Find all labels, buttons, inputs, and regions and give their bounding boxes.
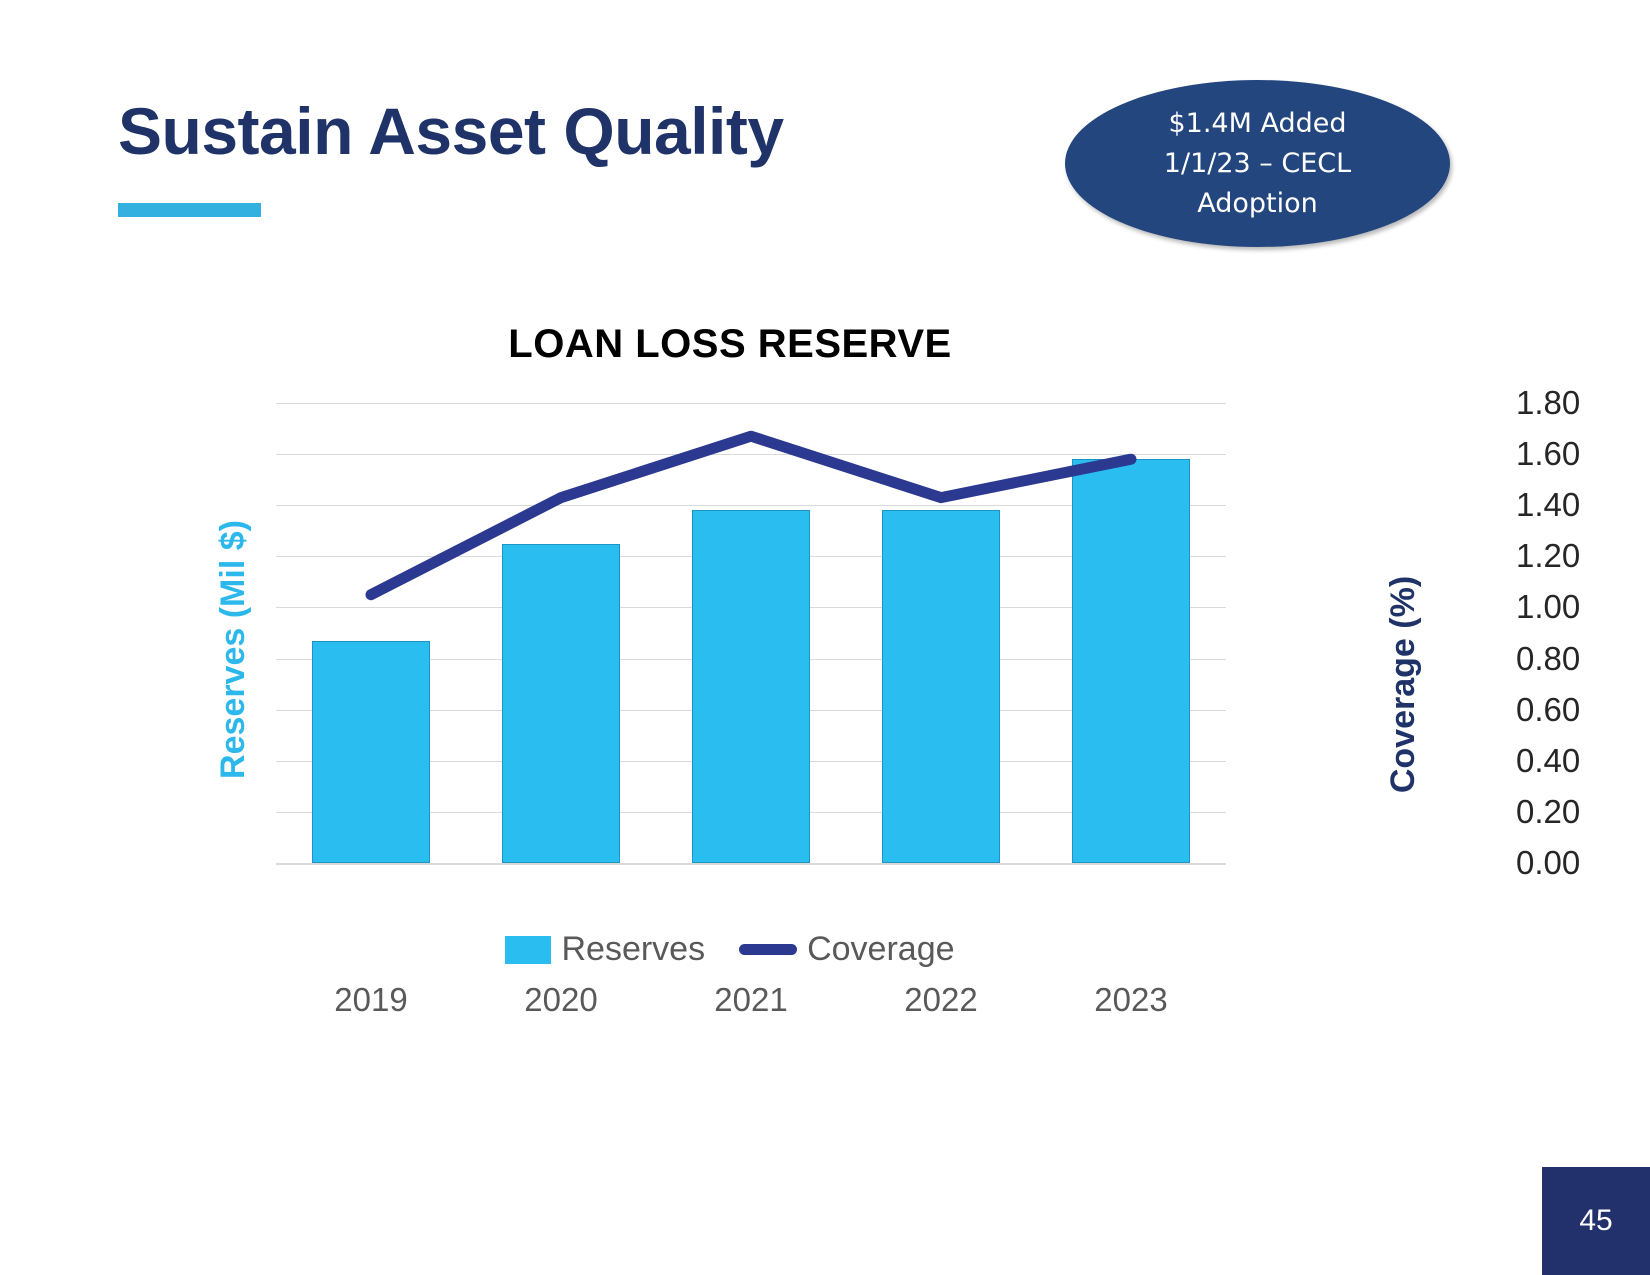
legend-item-reserves: Reserves	[505, 930, 705, 969]
cecl-callout-oval: $1.4M Added 1/1/23 – CECL Adoption	[1065, 80, 1450, 247]
y-axis-right-tick: 0.00	[1516, 844, 1650, 882]
x-axis-tick-2020: 2020	[524, 981, 597, 1019]
y-axis-left-label: Reserves (Mil $)	[214, 520, 253, 779]
y-axis-right-tick: 0.80	[1516, 640, 1650, 678]
y-axis-right-tick: 1.20	[1516, 537, 1650, 575]
chart-legend: Reserves Coverage	[0, 930, 1460, 969]
y-axis-right-label: Coverage (%)	[1384, 576, 1423, 793]
y-axis-right-tick: 0.20	[1516, 793, 1650, 831]
x-axis-tick-2019: 2019	[334, 981, 407, 1019]
plot-area: 0.02.04.06.08.010.012.014.016.018.0 0.00…	[276, 403, 1226, 863]
legend-label-reserves: Reserves	[561, 930, 705, 969]
y-axis-right-tick: 1.60	[1516, 435, 1650, 473]
x-axis-tick-2022: 2022	[904, 981, 977, 1019]
y-axis-right-tick: 0.60	[1516, 691, 1650, 729]
page-number: 45	[1579, 1204, 1612, 1238]
legend-line-swatch-icon	[739, 944, 797, 955]
legend-item-coverage: Coverage	[739, 930, 954, 969]
y-axis-right-tick: 1.40	[1516, 486, 1650, 524]
x-axis-line	[276, 863, 1226, 865]
y-axis-right-tick: 1.80	[1516, 384, 1650, 422]
legend-bar-swatch-icon	[505, 936, 551, 964]
cecl-callout-text: $1.4M Added 1/1/23 – CECL Adoption	[1164, 104, 1351, 224]
page-title: Sustain Asset Quality	[118, 93, 784, 169]
x-axis-tick-2023: 2023	[1094, 981, 1167, 1019]
legend-label-coverage: Coverage	[807, 930, 954, 969]
y-axis-right-tick: 1.00	[1516, 588, 1650, 626]
loan-loss-reserve-chart: LOAN LOSS RESERVE Reserves (Mil $) Cover…	[0, 300, 1460, 1020]
page-number-badge: 45	[1542, 1167, 1650, 1275]
line-series-coverage	[276, 403, 1226, 863]
chart-title: LOAN LOSS RESERVE	[0, 322, 1460, 367]
x-axis-tick-2021: 2021	[714, 981, 787, 1019]
y-axis-right-tick: 0.40	[1516, 742, 1650, 780]
title-underline-rule	[118, 203, 261, 217]
